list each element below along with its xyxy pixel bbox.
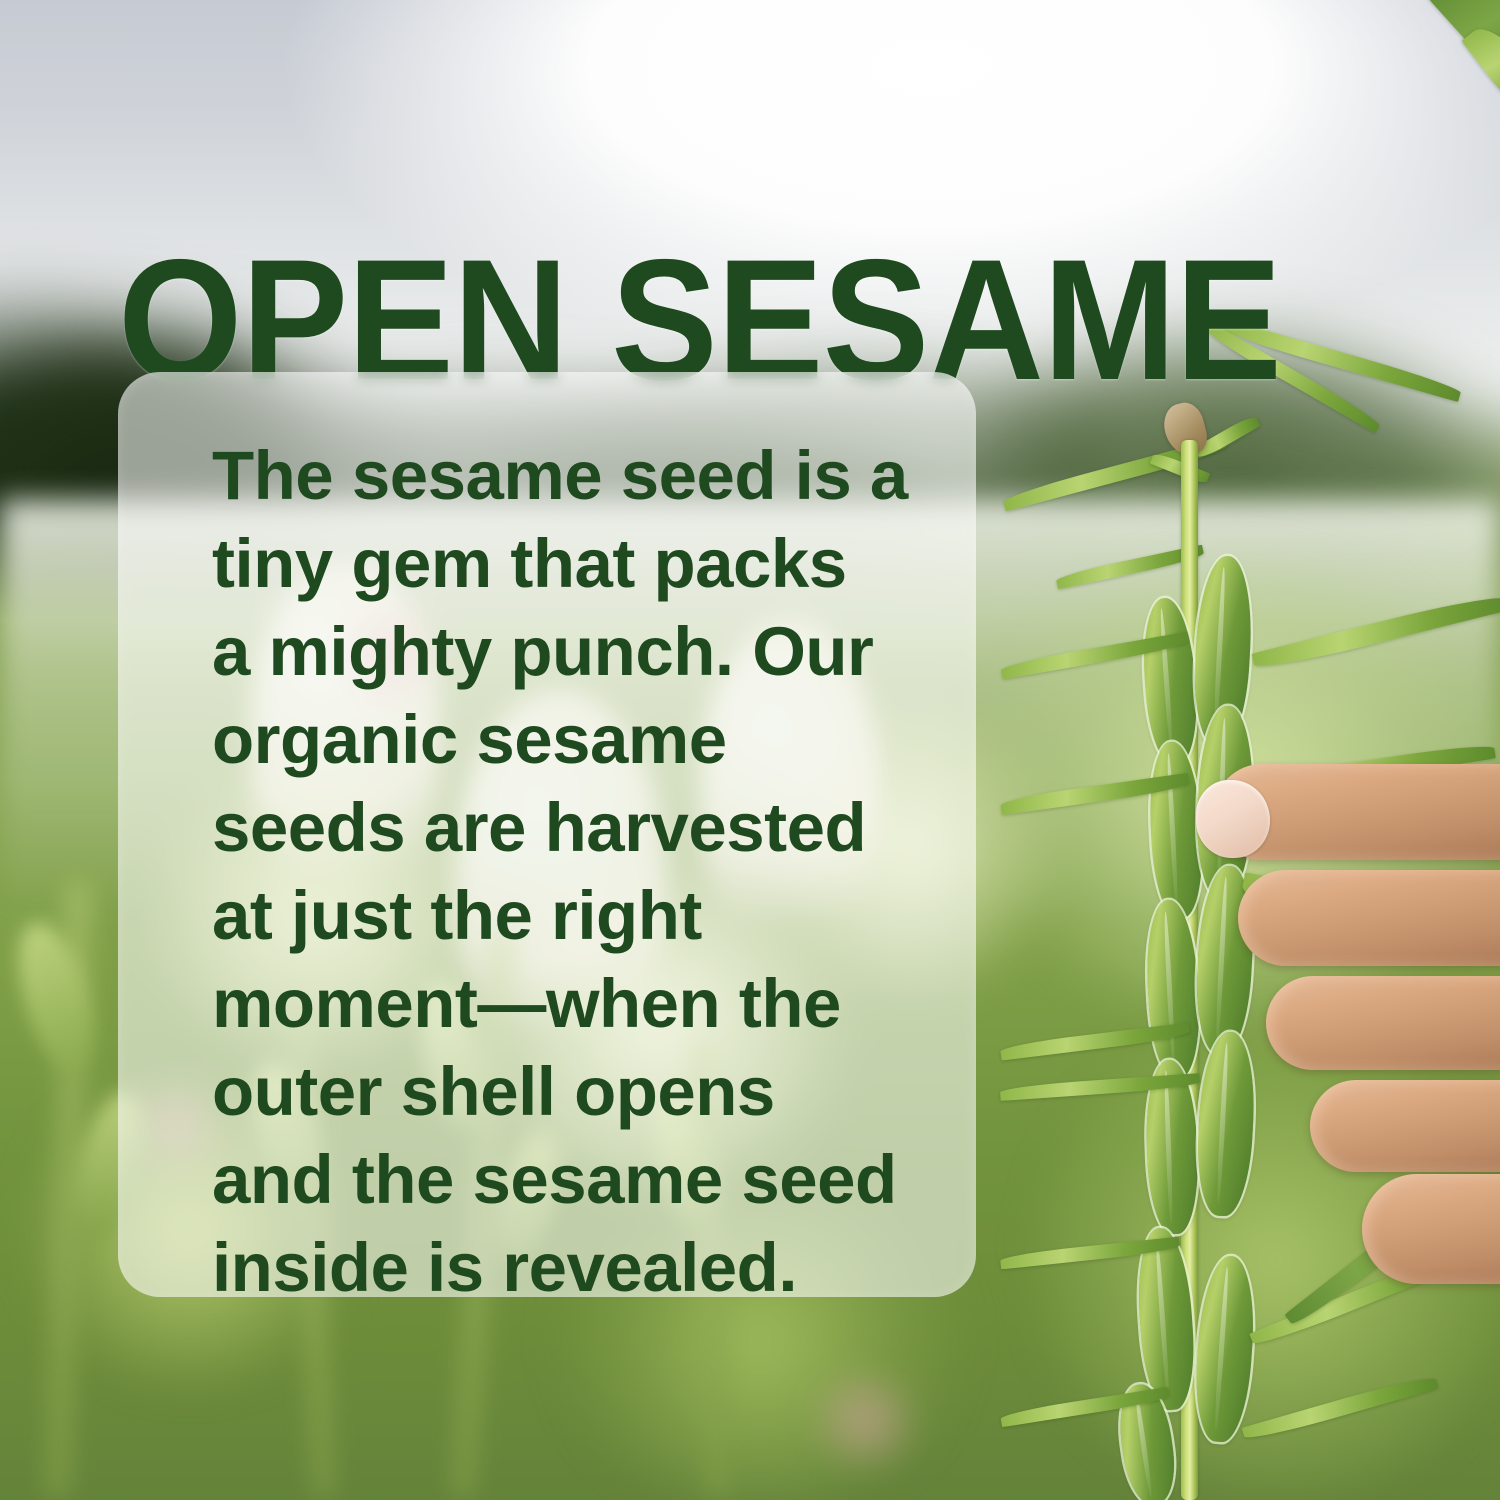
corner-leaf-sprig <box>1380 0 1500 170</box>
body-line: The sesame seed is a <box>212 432 912 520</box>
fingernail <box>1196 780 1270 858</box>
little-finger <box>1310 1080 1500 1172</box>
body-line: at just the right <box>212 872 912 960</box>
body-line: moment—when the <box>212 960 912 1048</box>
body-copy: The sesame seed is a tiny gem that packs… <box>212 432 912 1312</box>
leaf <box>1242 1373 1439 1444</box>
hand-holding-plant <box>1192 760 1500 1320</box>
body-line: tiny gem that packs <box>212 520 912 608</box>
body-line: and the sesame seed <box>212 1136 912 1224</box>
product-poster: OPEN SESAME The sesame seed is a tiny ge… <box>0 0 1500 1500</box>
body-line: a mighty punch. Our <box>212 608 912 696</box>
body-line: outer shell opens <box>212 1048 912 1136</box>
body-line: inside is revealed. <box>212 1224 912 1312</box>
body-line: organic sesame <box>212 696 912 784</box>
palm-edge <box>1362 1174 1500 1284</box>
leaf <box>1251 591 1500 673</box>
middle-finger <box>1238 870 1500 966</box>
ring-finger <box>1266 976 1500 1070</box>
body-line: seeds are harvested <box>212 784 912 872</box>
